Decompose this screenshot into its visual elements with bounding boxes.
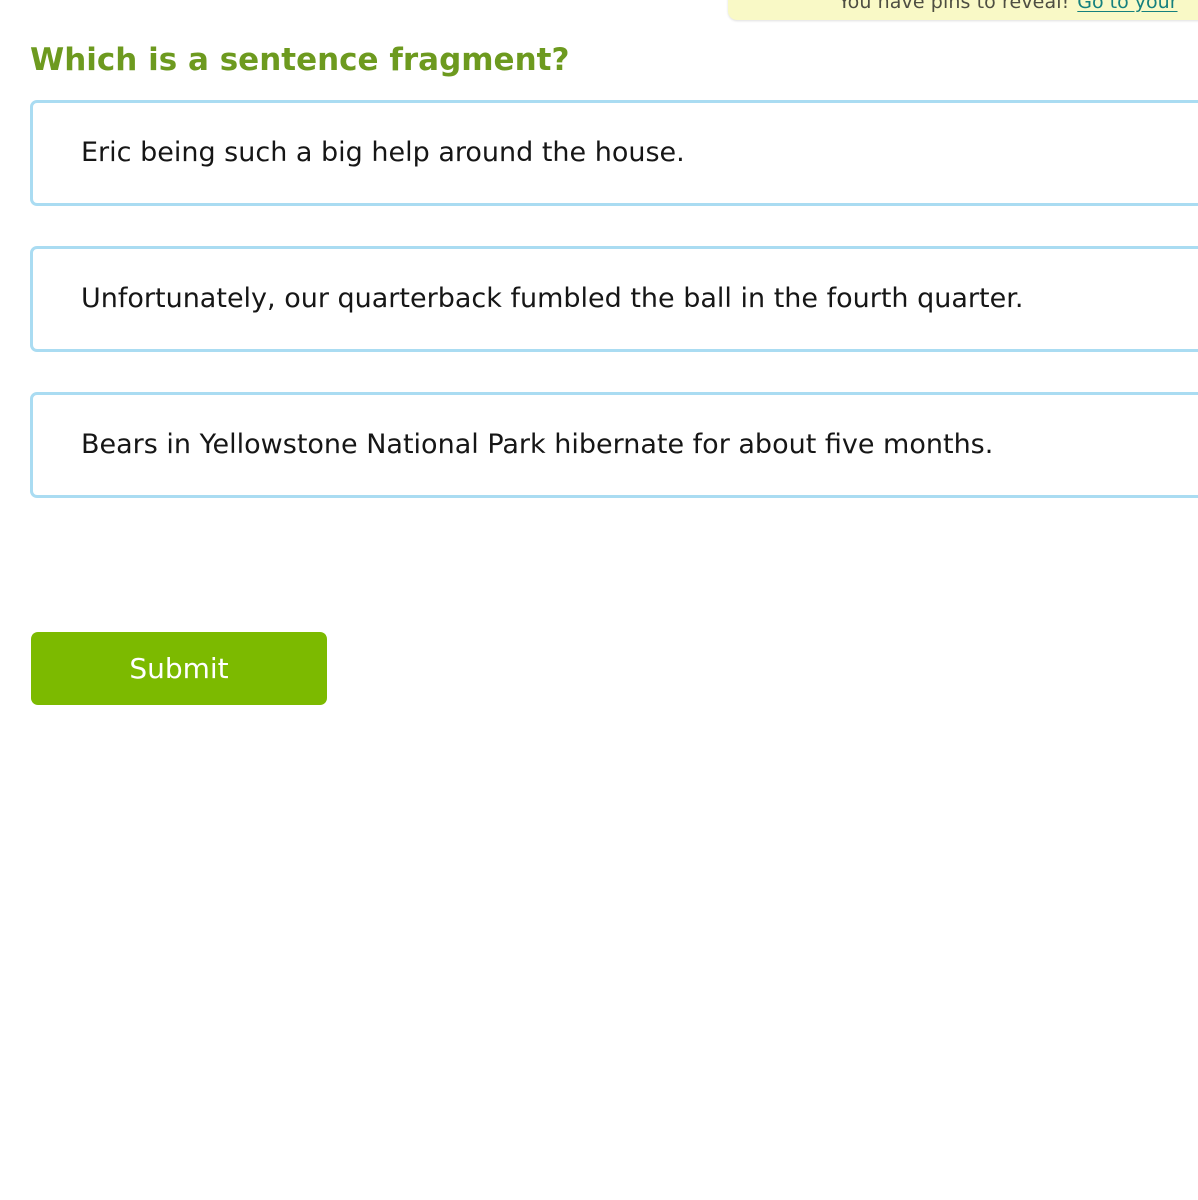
answer-option-label: Unfortunately, our quarterback fumbled t… (81, 275, 1198, 323)
question-emphasis: sentence fragment (220, 42, 552, 78)
notification-message: You have pins to reveal! (838, 0, 1069, 13)
answer-option-3[interactable]: Bears in Yellowstone National Park hiber… (30, 392, 1198, 498)
go-to-your-link[interactable]: Go to your (1077, 0, 1177, 13)
answer-option-label: Bears in Yellowstone National Park hiber… (81, 421, 1198, 469)
question-suffix: ? (551, 42, 569, 78)
answer-options-list: Eric being such a big help around the ho… (30, 100, 1198, 538)
answer-option-label: Eric being such a big help around the ho… (81, 129, 1198, 177)
pins-notification-banner: You have pins to reveal! Go to your (728, 0, 1198, 20)
answer-option-1[interactable]: Eric being such a big help around the ho… (30, 100, 1198, 206)
submit-button[interactable]: Submit (31, 632, 327, 705)
question-heading: Which is a sentence fragment? (30, 39, 569, 81)
question-prefix: Which is a (30, 42, 220, 78)
answer-option-2[interactable]: Unfortunately, our quarterback fumbled t… (30, 246, 1198, 352)
